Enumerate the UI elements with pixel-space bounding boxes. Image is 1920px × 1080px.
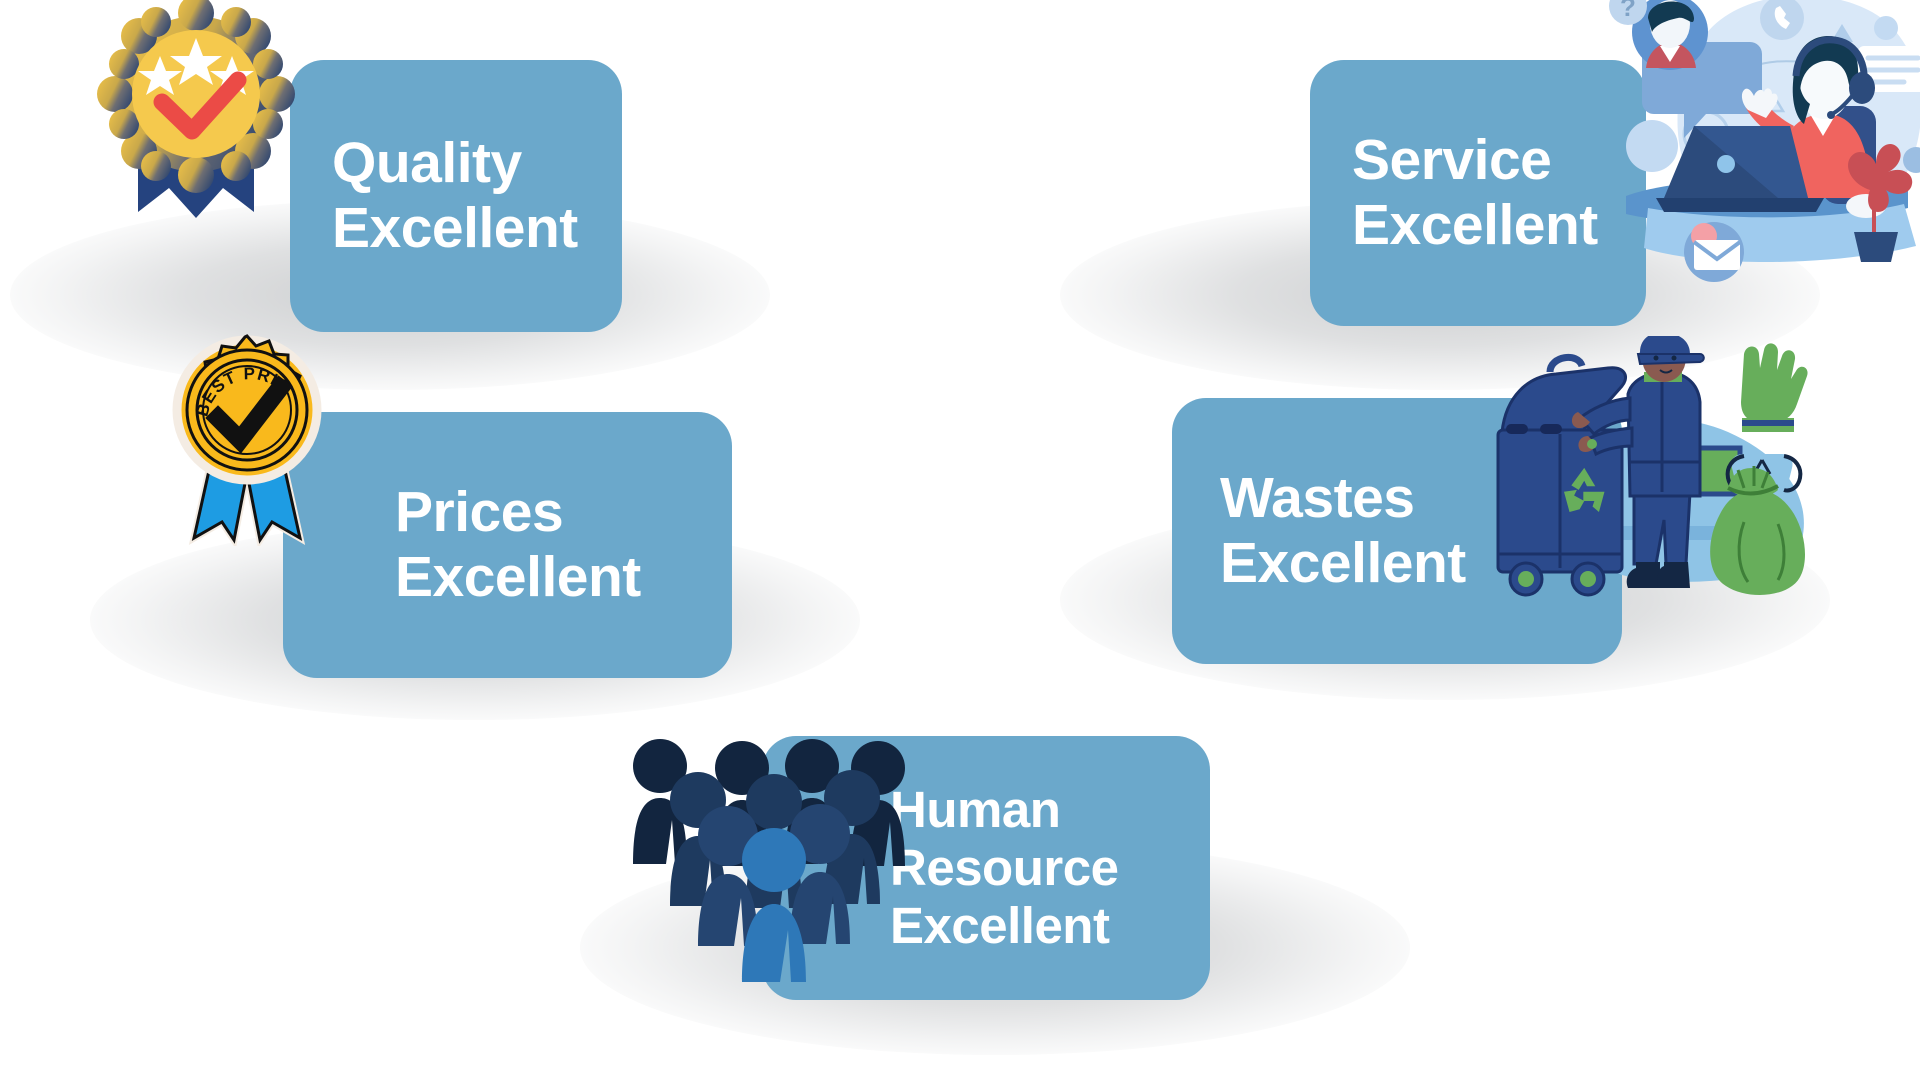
quality-badge-icon <box>70 0 320 244</box>
card-quality-label: Quality Excellent <box>332 131 622 261</box>
card-human-resource[interactable]: Human Resource Excellent <box>762 736 1210 1000</box>
svg-text:BEST PRICE: BEST PRICE <box>152 326 295 419</box>
infographic-canvas: Quality Excellent <box>0 0 1920 1080</box>
card-wastes[interactable]: Wastes Excellent <box>1172 398 1622 664</box>
card-human-resource-label: Human Resource Excellent <box>890 781 1210 955</box>
card-prices-label: Prices Excellent <box>395 480 732 610</box>
card-service[interactable]: Service Excellent <box>1310 60 1646 326</box>
card-wastes-label: Wastes Excellent <box>1220 466 1622 596</box>
card-service-label: Service Excellent <box>1352 128 1646 258</box>
svg-text:?: ? <box>1620 0 1636 22</box>
card-quality[interactable]: Quality Excellent <box>290 60 622 332</box>
card-prices[interactable]: Prices Excellent <box>283 412 732 678</box>
best-price-badge-text: BEST PRICE <box>152 326 295 419</box>
